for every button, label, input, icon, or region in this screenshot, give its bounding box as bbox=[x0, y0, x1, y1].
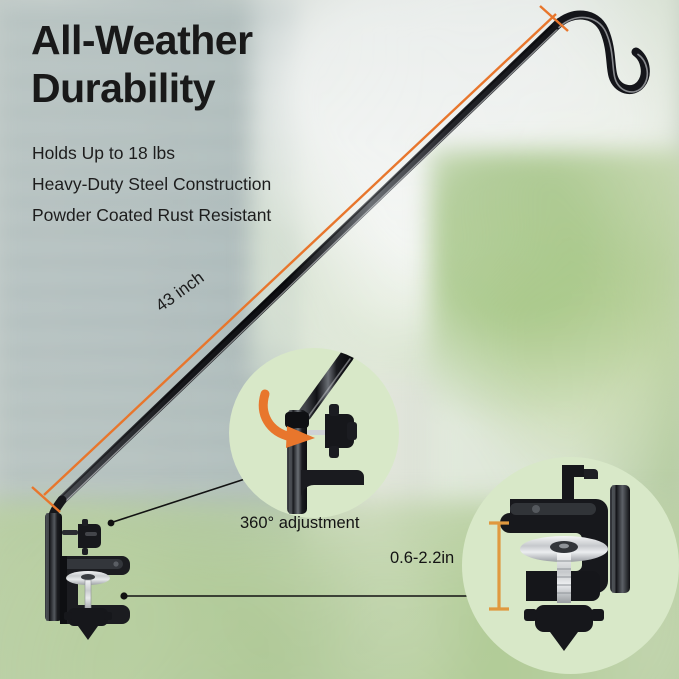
rotation-annotation: 360° adjustment bbox=[240, 514, 359, 533]
top-bracket bbox=[562, 465, 584, 499]
inset-rotation-detail bbox=[229, 348, 399, 518]
clamp-range-annotation: 0.6-2.2in bbox=[390, 549, 454, 568]
pole-upper-segment bbox=[305, 356, 347, 414]
inset-clamp-detail bbox=[462, 457, 679, 674]
product-feature-image: All-Weather Durability Holds Up to 18 lb… bbox=[0, 0, 679, 679]
vertical-dimension-bar-icon bbox=[489, 523, 509, 609]
clamp-arm bbox=[301, 470, 364, 498]
